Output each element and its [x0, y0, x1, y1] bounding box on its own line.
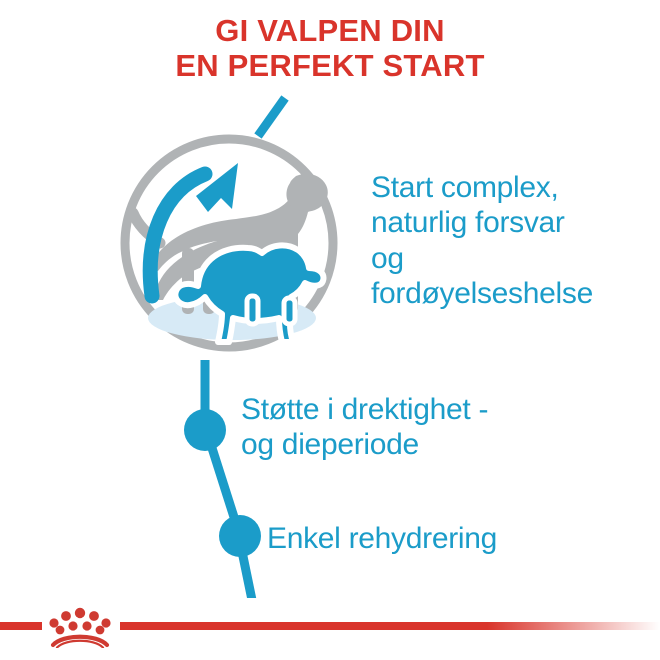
benefit-text-1: Start complex, naturlig forsvar og fordø… [371, 170, 593, 312]
connector-node-1 [184, 409, 226, 451]
footer-rule-left [0, 622, 42, 630]
connector-node-2 [219, 515, 261, 557]
royal-canin-crown-icon [47, 603, 113, 648]
benefit-2-line-2: og dieperiode [241, 427, 488, 462]
illustration-layer [0, 0, 660, 660]
puppy-and-adult-dog-circle-icon [125, 139, 333, 347]
benefit-1-line-1: Start complex, [371, 170, 593, 205]
benefit-1-line-3: og [371, 241, 593, 276]
poster-canvas: GI VALPEN DIN EN PERFEKT START [0, 0, 660, 660]
footer-brand-band [0, 598, 660, 660]
benefit-1-line-2: naturlig forsvar [371, 205, 593, 240]
benefit-1-line-4: fordøyelseshelse [371, 276, 593, 311]
footer-rule-right [120, 622, 660, 630]
benefit-text-3: Enkel rehydrering [267, 521, 497, 556]
benefit-3-line-1: Enkel rehydrering [267, 521, 497, 556]
benefit-text-2: Støtte i drektighet - og dieperiode [241, 392, 488, 463]
benefit-2-line-1: Støtte i drektighet - [241, 392, 488, 427]
